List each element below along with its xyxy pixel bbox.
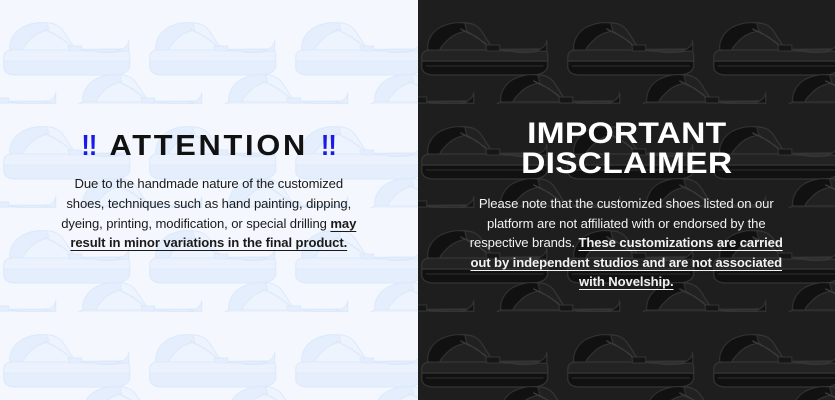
disclaimer-title-line-2: DISCLAIMER <box>418 149 835 179</box>
bang-right: !! <box>321 131 336 161</box>
disclaimer-body-block: Please note that the customized shoes li… <box>418 194 835 292</box>
disclaimer-title-line-1: IMPORTANT <box>418 119 835 149</box>
attention-panel: !!ATTENTION!! Due to the handmade nature… <box>0 0 418 400</box>
disclaimer-heading-block: IMPORTANT DISCLAIMER <box>418 119 835 179</box>
disclaimer-body-text: Please note that the customized shoes li… <box>465 194 787 292</box>
attention-body-text: Due to the handmade nature of the custom… <box>59 174 359 252</box>
bang-left: !! <box>81 131 96 161</box>
attention-heading-block: !!ATTENTION!! <box>0 131 418 161</box>
attention-title-text: ATTENTION <box>110 130 308 162</box>
disclaimer-banner: !!ATTENTION!! Due to the handmade nature… <box>0 0 835 400</box>
page-title-disclaimer: IMPORTANT DISCLAIMER <box>418 119 835 179</box>
attention-body-normal: Due to the handmade nature of the custom… <box>61 176 351 230</box>
disclaimer-panel: IMPORTANT DISCLAIMER Please note that th… <box>418 0 835 400</box>
attention-body-block: Due to the handmade nature of the custom… <box>0 174 418 252</box>
page-title-attention: !!ATTENTION!! <box>0 131 418 161</box>
